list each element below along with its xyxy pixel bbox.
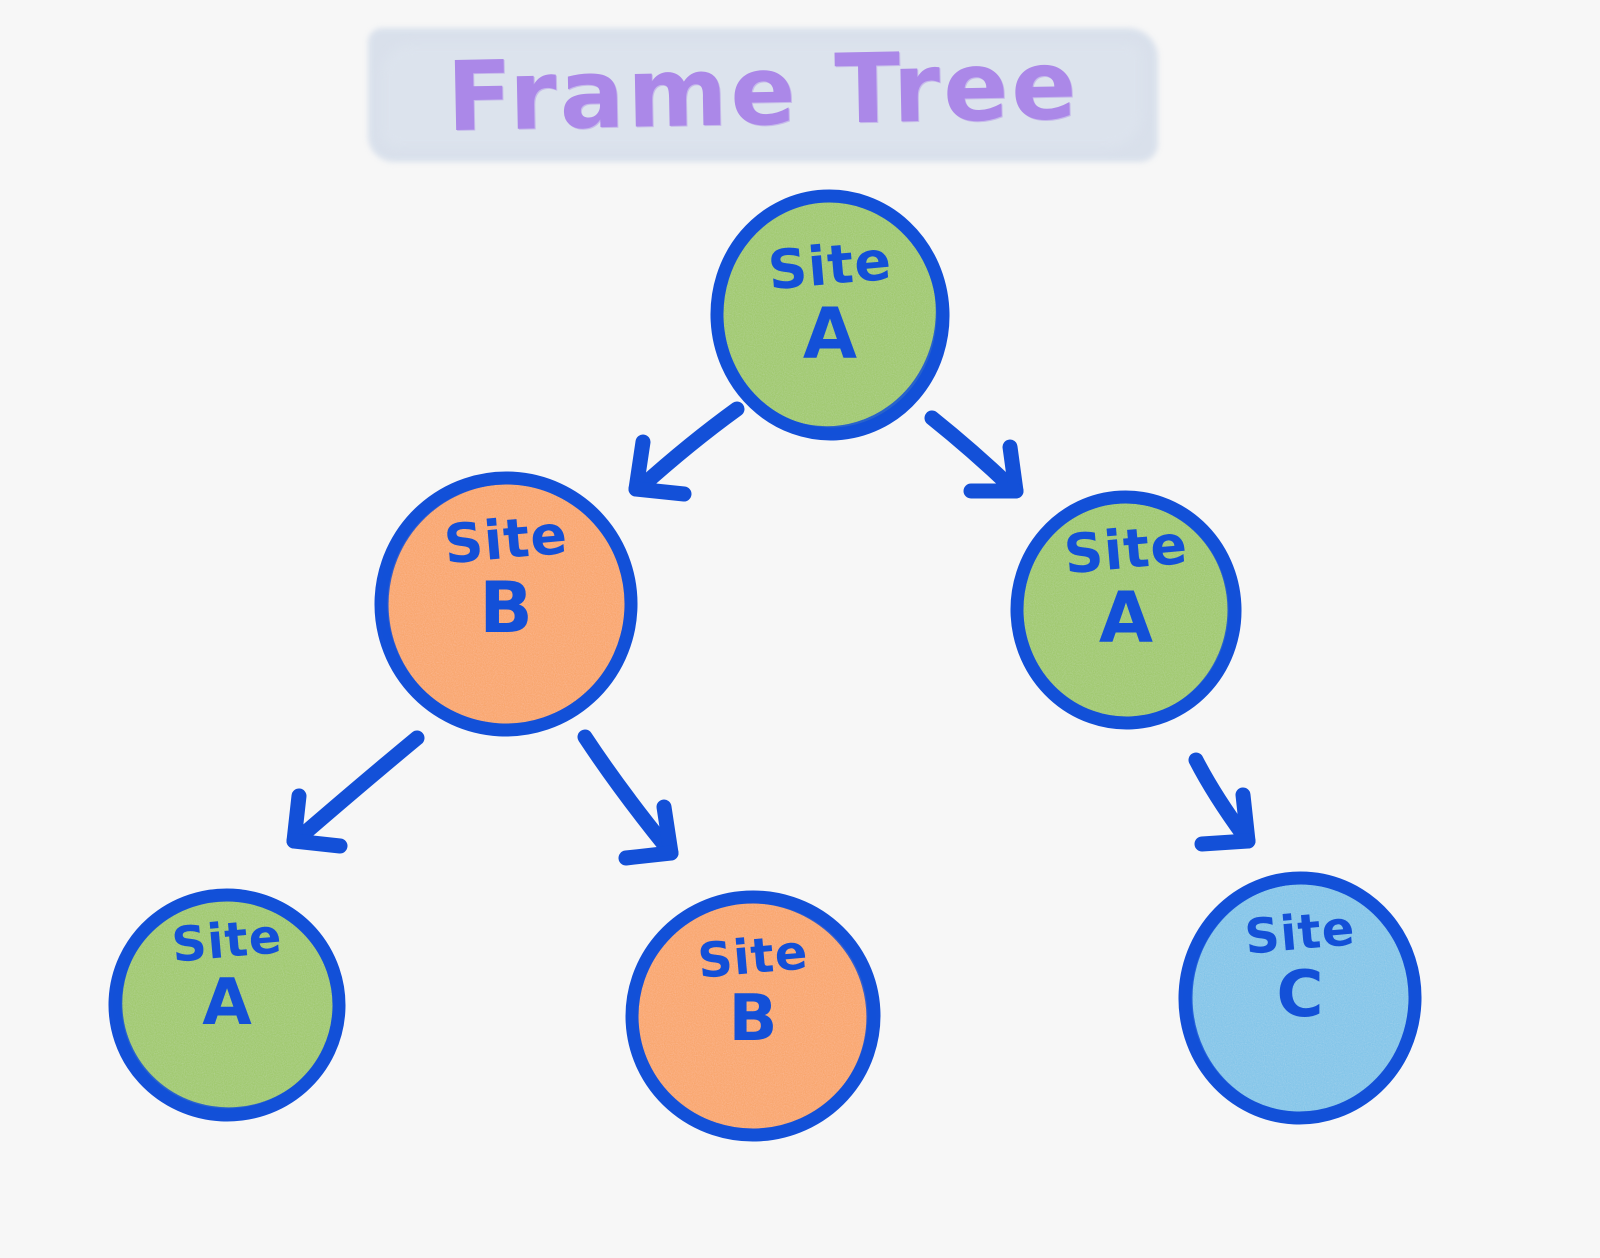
frame-tree-diagram: Frame Tree <box>0 0 1600 1258</box>
edge-site-a-to-site-c <box>1196 760 1248 844</box>
node-site-a-a2[interactable] <box>109 885 349 1122</box>
tree-graphics <box>0 0 1600 1258</box>
node-site-b-b1[interactable] <box>374 469 643 740</box>
node-site-b-b2[interactable] <box>619 887 882 1147</box>
node-site-a-a1[interactable] <box>1005 488 1243 733</box>
edge-root-to-site-b <box>636 409 737 494</box>
node-site-c-c1[interactable] <box>1178 870 1426 1127</box>
edge-site-b-to-site-b2 <box>585 737 671 858</box>
tree-nodes <box>109 184 1426 1147</box>
edge-site-b-to-site-a <box>294 738 417 846</box>
edge-root-to-site-a <box>932 418 1016 491</box>
